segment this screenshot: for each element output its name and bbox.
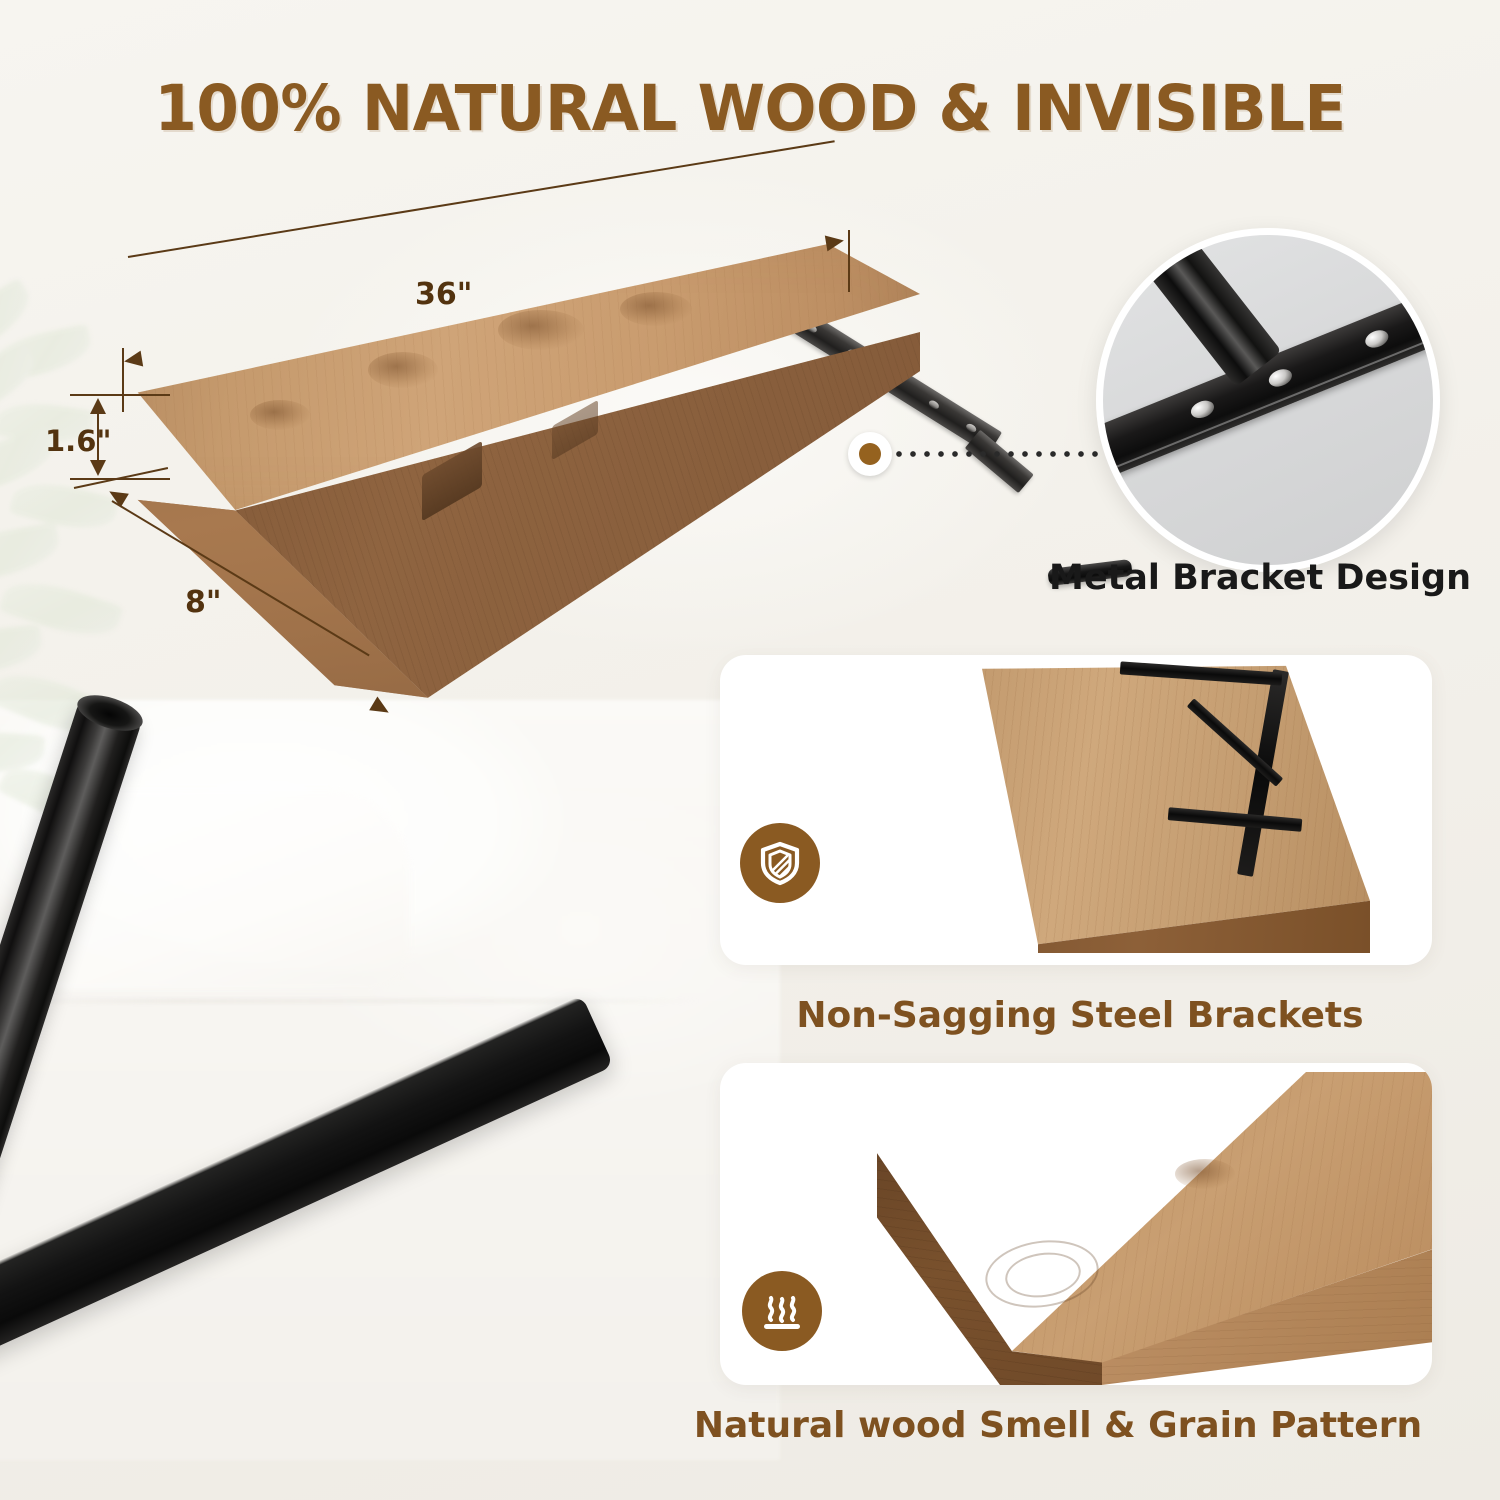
- feature-card-non-sagging-steel-brackets[interactable]: [720, 655, 1432, 965]
- page-headline: 100% NATURAL WOOD & INVISIBLE: [23, 72, 1478, 145]
- dimension-depth-label: 8": [185, 585, 222, 620]
- dimension-thickness-label: 1.6": [45, 424, 111, 458]
- feature-card-caption-grain: Natural wood Smell & Grain Pattern: [678, 1405, 1438, 1446]
- callout-bracket-rod: [1125, 228, 1282, 387]
- shield-icon: [740, 823, 820, 903]
- callout-caption: Metal Bracket Design: [1010, 558, 1500, 598]
- wood-plank: [100, 240, 920, 700]
- bracket-mounting-plate: [0, 995, 614, 1381]
- infographic-page: 100% NATURAL WOOD & INVISIBLE: [0, 0, 1500, 1500]
- dotted-connector-line: [878, 450, 1100, 458]
- feature-card-caption-brackets: Non-Sagging Steel Brackets: [700, 995, 1460, 1036]
- dimension-length-label: 36": [415, 277, 472, 312]
- bracket-plate-tail: [965, 430, 1034, 493]
- bracket-support-rod: [0, 700, 142, 1253]
- callout-bracket-plate: [1096, 276, 1440, 482]
- feature-card-natural-wood-smell-grain-pattern[interactable]: [720, 1063, 1432, 1385]
- callout-marker-dot: [848, 432, 892, 476]
- aroma-steam-icon: [742, 1271, 822, 1351]
- bracket-closeup-callout: [1096, 228, 1440, 572]
- large-t-bracket-icon: [0, 690, 680, 1500]
